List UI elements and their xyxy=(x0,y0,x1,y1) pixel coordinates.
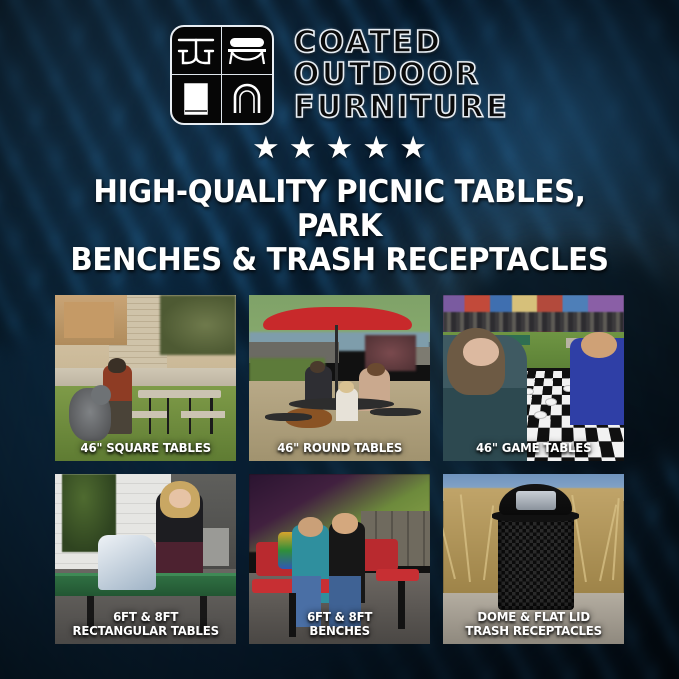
product-tile-round-tables[interactable]: 46" ROUND TABLES xyxy=(249,295,430,461)
caption-line-1: 46" GAME TABLES xyxy=(449,441,619,455)
caption-line-2: BENCHES xyxy=(254,624,424,638)
logo-icon-grid xyxy=(170,25,274,125)
star-rating: ★ ★ ★ ★ ★ xyxy=(0,132,679,163)
headline: HIGH-QUALITY PICNIC TABLES, PARK BENCHES… xyxy=(24,175,655,277)
star-icon: ★ xyxy=(252,132,280,163)
park-bench-icon xyxy=(222,27,272,75)
product-tile-game-tables[interactable]: 46" GAME TABLES xyxy=(443,295,624,461)
brand-name-line-1: COATED xyxy=(294,27,509,58)
picnic-table-icon xyxy=(172,27,222,75)
brand-wordmark: COATED OUTDOOR FURNITURE xyxy=(294,27,509,123)
star-icon: ★ xyxy=(326,132,354,163)
tile-caption: 6FT & 8FT RECTANGULAR TABLES xyxy=(60,610,230,638)
trash-receptacle-icon xyxy=(172,75,222,123)
caption-line-1: 6FT & 8FT xyxy=(254,610,424,624)
product-tile-square-tables[interactable]: 46" SQUARE TABLES xyxy=(55,295,236,461)
star-icon: ★ xyxy=(399,132,427,163)
caption-line-1: 46" SQUARE TABLES xyxy=(60,441,230,455)
caption-line-1: 6FT & 8FT xyxy=(60,610,230,624)
product-tile-trash-receptacles[interactable]: DOME & FLAT LID TRASH RECEPTACLES xyxy=(443,474,624,644)
tile-caption: 46" ROUND TABLES xyxy=(254,441,424,455)
brand-name-line-2: OUTDOOR xyxy=(294,59,509,90)
product-tile-benches[interactable]: 6FT & 8FT BENCHES xyxy=(249,474,430,644)
caption-line-2: RECTANGULAR TABLES xyxy=(60,624,230,638)
photo-round-tables xyxy=(249,295,430,461)
headline-line-1: HIGH-QUALITY PICNIC TABLES, PARK xyxy=(55,175,623,243)
product-tile-rectangular-tables[interactable]: 6FT & 8FT RECTANGULAR TABLES xyxy=(55,474,236,644)
headline-line-2: BENCHES & TRASH RECEPTACLES xyxy=(55,243,623,277)
star-icon: ★ xyxy=(289,132,317,163)
star-icon: ★ xyxy=(362,132,390,163)
tile-caption: 6FT & 8FT BENCHES xyxy=(254,610,424,638)
photo-square-tables xyxy=(55,295,236,461)
tile-caption: 46" SQUARE TABLES xyxy=(60,441,230,455)
caption-line-1: 46" ROUND TABLES xyxy=(254,441,424,455)
caption-line-1: DOME & FLAT LID xyxy=(449,610,619,624)
brand-name-line-3: FURNITURE xyxy=(294,92,509,123)
tile-caption: 46" GAME TABLES xyxy=(449,441,619,455)
bike-rack-icon xyxy=(222,75,272,123)
brand-logo: COATED OUTDOOR FURNITURE xyxy=(0,0,679,124)
tile-caption: DOME & FLAT LID TRASH RECEPTACLES xyxy=(449,610,619,638)
caption-line-2: TRASH RECEPTACLES xyxy=(449,624,619,638)
product-photo-grid: 46" SQUARE TABLES 46" ROUND TABLES xyxy=(55,295,625,644)
promo-banner: COATED OUTDOOR FURNITURE ★ ★ ★ ★ ★ HIGH-… xyxy=(0,0,679,679)
photo-game-tables xyxy=(443,295,624,461)
